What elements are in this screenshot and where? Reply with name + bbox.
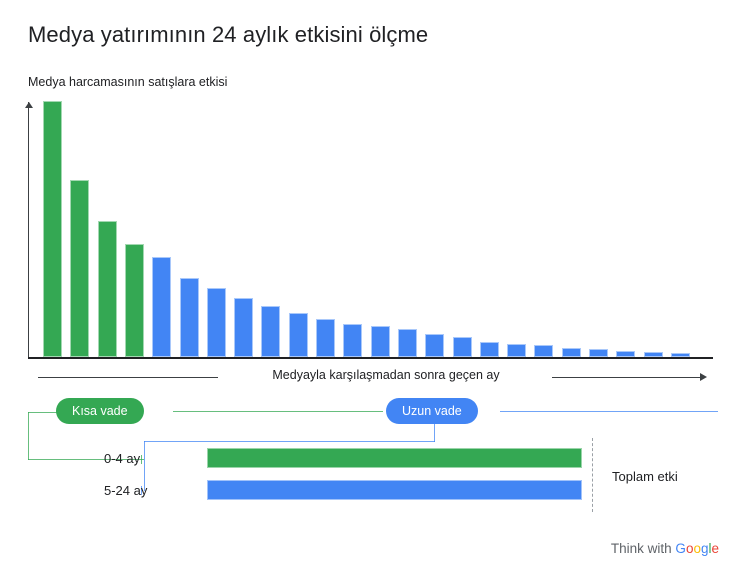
bar bbox=[207, 288, 226, 357]
y-axis-line bbox=[28, 102, 29, 358]
x-axis-label: Medyayla karşılaşmadan sonra geçen ay bbox=[228, 368, 544, 382]
total-effect-divider bbox=[592, 438, 593, 512]
x-caption-rule-right bbox=[552, 377, 702, 378]
legend-summary-area: Kısa vade Uzun vade 0-4 ay 5-24 ay Topla… bbox=[28, 398, 720, 513]
bar bbox=[589, 349, 608, 357]
bar bbox=[562, 348, 581, 357]
bar bbox=[343, 324, 362, 357]
long-term-bracket-horizontal bbox=[144, 441, 435, 442]
bar bbox=[316, 319, 335, 357]
legend-pill-short-term[interactable]: Kısa vade bbox=[56, 398, 144, 424]
chart-subtitle: Medya harcamasının satışlara etkisi bbox=[28, 75, 227, 89]
legend-pill-long-term[interactable]: Uzun vade bbox=[386, 398, 478, 424]
total-effect-label: Toplam etki bbox=[612, 469, 678, 484]
bar bbox=[70, 180, 89, 357]
short-term-bracket-tick bbox=[141, 455, 142, 464]
summary-bar-long-term bbox=[207, 480, 582, 500]
short-term-bracket-vertical bbox=[28, 412, 29, 460]
page-title: Medya yatırımının 24 aylık etkisini ölçm… bbox=[28, 22, 428, 48]
bar bbox=[261, 306, 280, 357]
bar bbox=[98, 221, 117, 357]
footer-think: Think bbox=[611, 541, 644, 556]
x-caption-rule-left bbox=[38, 377, 218, 378]
bar bbox=[671, 353, 690, 357]
bar bbox=[371, 326, 390, 357]
bar bbox=[398, 329, 417, 357]
bar bbox=[480, 342, 499, 357]
bar bbox=[289, 313, 308, 357]
chart-plot-area bbox=[28, 98, 718, 360]
bar bbox=[534, 345, 553, 357]
bar bbox=[425, 334, 444, 357]
bar-series bbox=[43, 101, 718, 357]
summary-row-label-5-24: 5-24 ay bbox=[104, 483, 147, 498]
bar bbox=[507, 344, 526, 357]
summary-bar-short-term bbox=[207, 448, 582, 468]
summary-row-label-0-4: 0-4 ay bbox=[104, 451, 140, 466]
bar bbox=[453, 337, 472, 357]
short-term-connector-line bbox=[173, 411, 383, 412]
x-axis-caption: Medyayla karşılaşmadan sonra geçen ay bbox=[28, 368, 718, 388]
think-with-google-logo: Think with Google bbox=[611, 541, 719, 556]
google-letter-g1: G bbox=[675, 541, 686, 556]
x-axis-line bbox=[28, 357, 713, 359]
bar bbox=[152, 257, 171, 357]
bar bbox=[180, 278, 199, 357]
long-term-connector-line bbox=[500, 411, 718, 412]
google-letter-o2: o bbox=[693, 541, 701, 556]
bar bbox=[43, 101, 62, 357]
bar bbox=[234, 298, 253, 357]
x-axis-arrow-icon bbox=[700, 373, 707, 381]
y-axis-arrow-icon bbox=[25, 102, 33, 108]
bar bbox=[644, 352, 663, 357]
footer-with: with bbox=[648, 541, 672, 556]
chart-page: Medya yatırımının 24 aylık etkisini ölçm… bbox=[0, 0, 745, 572]
google-letter-e: e bbox=[711, 541, 719, 556]
bar bbox=[125, 244, 144, 357]
bar bbox=[616, 351, 635, 357]
